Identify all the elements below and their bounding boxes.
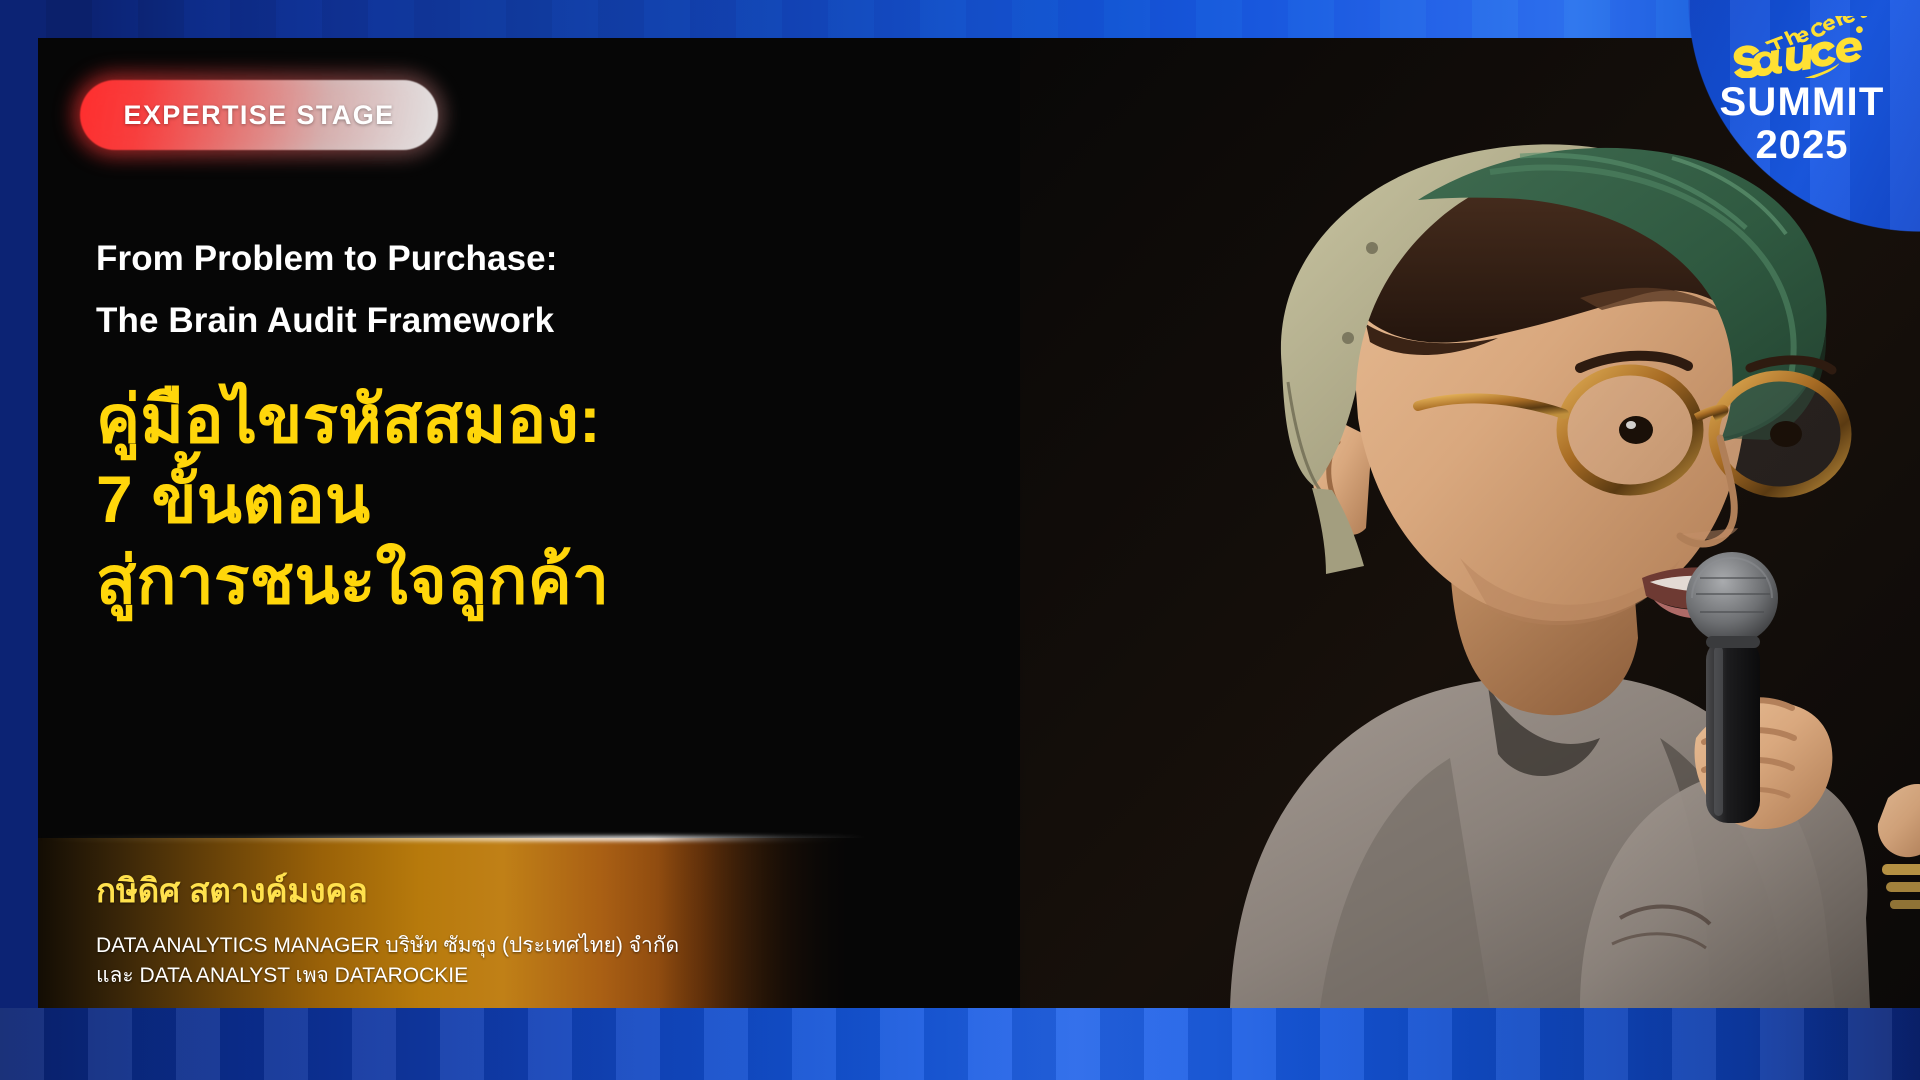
session-subtitle-en-line2: The Brain Audit Framework [96, 290, 916, 352]
speaker-info-bar: กษิดิศ สตางค์มงคล DATA ANALYTICS MANAGER… [38, 838, 868, 1008]
bottom-blue-strip [0, 1008, 1920, 1080]
session-headline-th: คู่มือไขรหัสสมอง: 7 ขั้นตอน สู่การชนะใจล… [96, 379, 916, 621]
the-secret-sauce-logo-icon: The Secret Sauce [1727, 16, 1877, 78]
speaker-title: DATA ANALYTICS MANAGER บริษัท ซัมซุง (ปร… [96, 931, 868, 991]
session-headline-th-line2: 7 ขั้นตอน [96, 459, 916, 540]
session-text-block: From Problem to Purchase: The Brain Audi… [96, 228, 916, 620]
stage-badge-label: EXPERTISE STAGE [80, 80, 438, 150]
speaker-title-line1: DATA ANALYTICS MANAGER บริษัท ซัมซุง (ปร… [96, 931, 868, 961]
session-subtitle-en-line1: From Problem to Purchase: [96, 228, 916, 290]
session-headline-th-line1: คู่มือไขรหัสสมอง: [96, 379, 916, 460]
session-subtitle-en: From Problem to Purchase: The Brain Audi… [96, 228, 916, 353]
summit-logo-panel: The Secret Sauce [1650, 0, 1920, 248]
summit-year: 2025 [1702, 124, 1902, 167]
summit-word: SUMMIT [1702, 82, 1902, 122]
speaker-info-content: กษิดิศ สตางค์มงคล DATA ANALYTICS MANAGER… [96, 864, 868, 991]
summit-logo-content: The Secret Sauce [1702, 16, 1902, 167]
content-card: EXPERTISE STAGE From Problem to Purchase… [38, 38, 1920, 1008]
speaker-name: กษิดิศ สตางค์มงคล [96, 864, 868, 917]
stage-badge: EXPERTISE STAGE [80, 80, 438, 150]
session-headline-th-line3: สู่การชนะใจลูกค้า [96, 540, 916, 621]
event-session-banner: EXPERTISE STAGE From Problem to Purchase… [0, 0, 1920, 1080]
speaker-title-line2: และ DATA ANALYST เพจ DATAROCKIE [96, 961, 868, 991]
